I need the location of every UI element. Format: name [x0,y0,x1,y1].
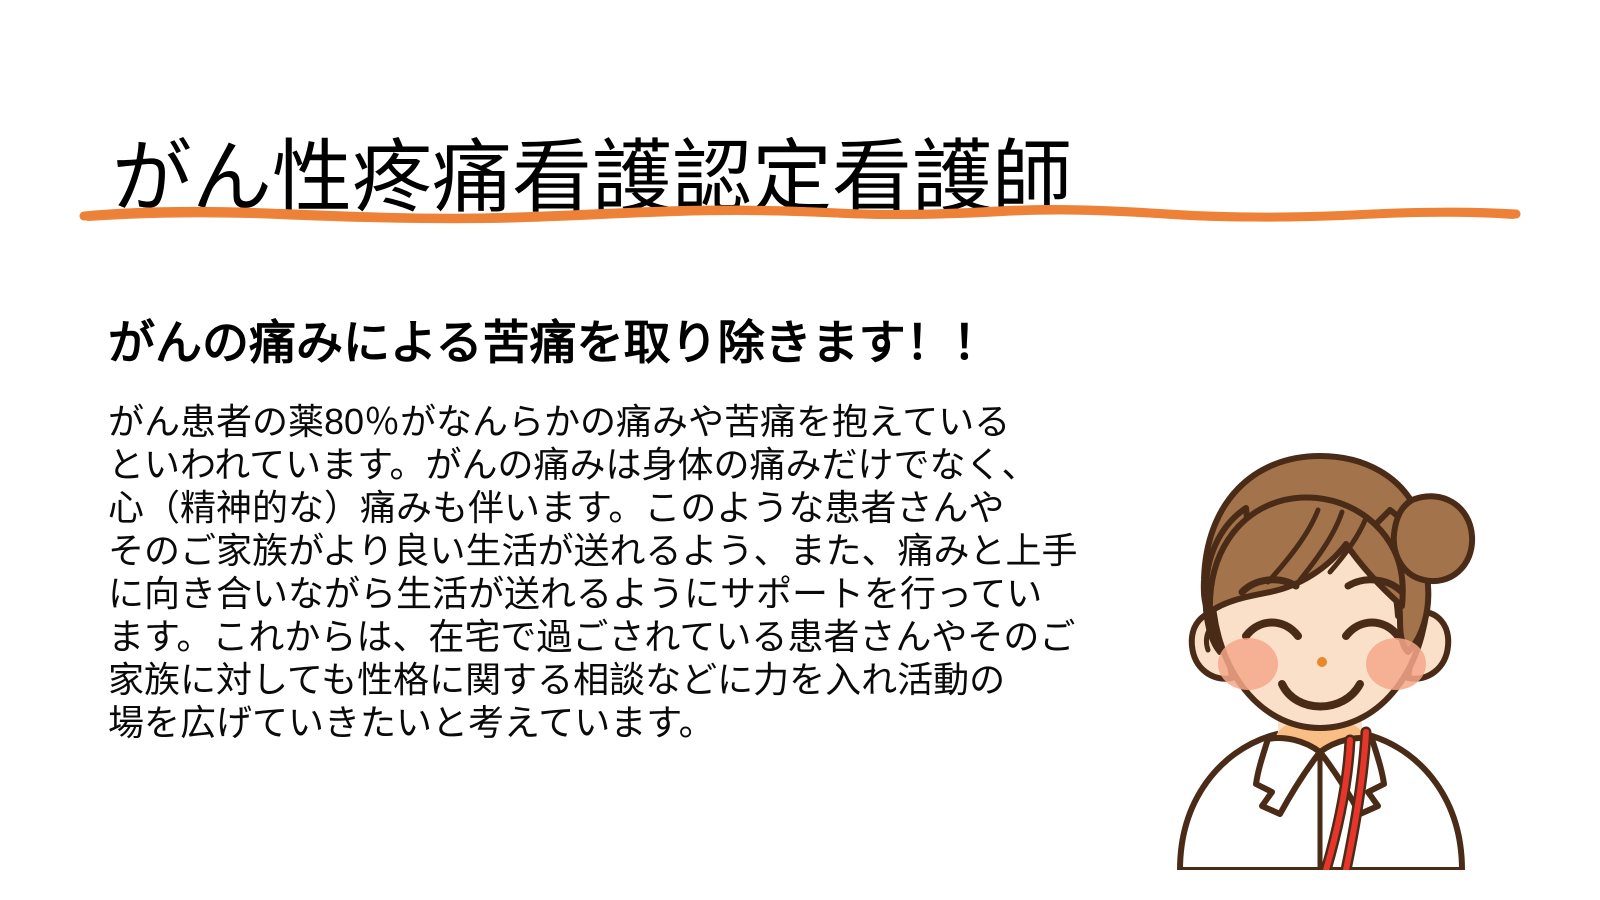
body-line: に向き合いながら生活が送れるようにサポートを行ってい [108,572,1138,615]
body-line: といわれています。がんの痛みは身体の痛みだけでなく、 [108,443,1138,486]
slide-canvas: がん性疼痛看護認定看護師 がんの痛みによる苦痛を取り除きます！！ がん患者の薬8… [0,0,1600,900]
body-line: そのご家族がより良い生活が送れるよう、また、痛みと上手 [108,529,1138,572]
body-line: ます。これからは、在宅で過ごされている患者さんやそのご [108,615,1138,658]
blush-right [1366,638,1426,690]
nose [1317,657,1327,667]
body-line: がん患者の薬80％がなんらかの痛みや苦痛を抱えている [108,400,1138,443]
blush-left [1218,638,1278,690]
body-paragraph: がん患者の薬80％がなんらかの痛みや苦痛を抱えている といわれています。がんの痛… [108,400,1138,744]
body-line: 場を広げていきたいと考えています。 [108,701,1138,744]
body-line: 家族に対しても性格に関する相談などに力を入れ活動の [108,658,1138,701]
hair-bun [1394,496,1472,581]
subtitle-heading: がんの痛みによる苦痛を取り除きます！！ [108,315,1000,371]
body-line: 心（精神的な）痛みも伴います。このような患者さんや [108,486,1138,529]
title-underline-decoration [78,192,1528,232]
smiling-nurse-illustration [1150,440,1490,870]
